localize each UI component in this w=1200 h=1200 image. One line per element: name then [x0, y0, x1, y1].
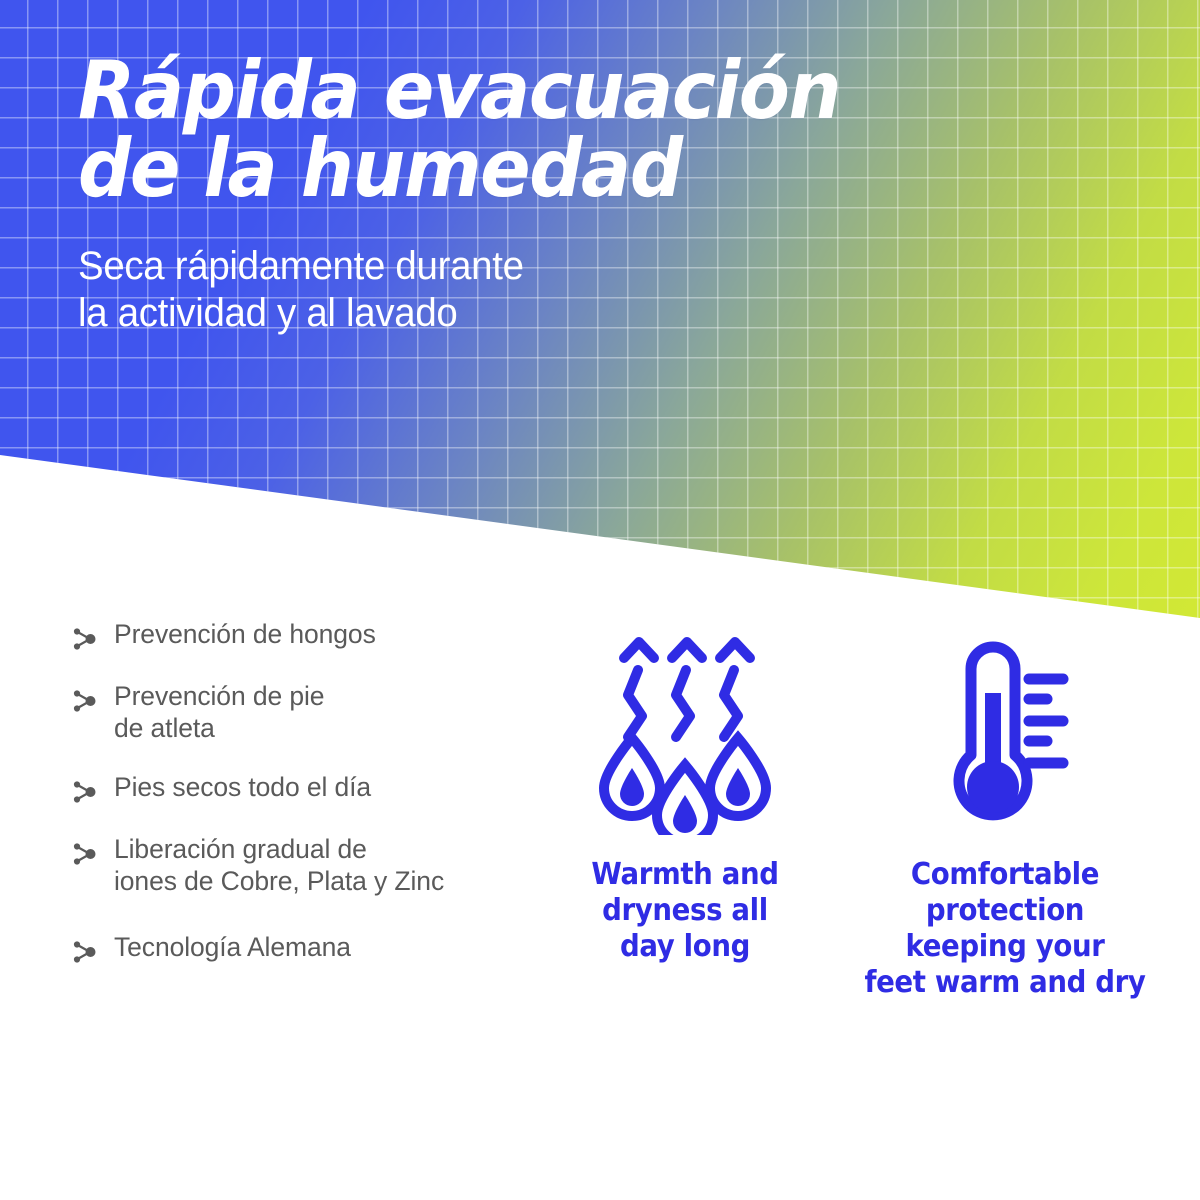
water-droplets-evaporation-icon — [560, 630, 810, 835]
page-subtitle: Seca rápidamente durante la actividad y … — [78, 209, 1038, 337]
list-item: Pies secos todo el día — [70, 771, 570, 807]
hero-text-block: Rápida evacuación de la humedad Seca ráp… — [78, 52, 1078, 337]
list-item-label: Tecnología Alemana — [114, 931, 351, 963]
share-node-icon — [70, 937, 100, 967]
list-item: Tecnología Alemana — [70, 931, 570, 967]
feature-caption: Comfortable protection keeping your feet… — [853, 857, 1157, 1001]
feature-warmth-dryness: Warmth and dryness all day long — [560, 630, 810, 965]
share-node-icon — [70, 624, 100, 654]
moisture-evacuation-infographic: Rápida evacuación de la humedad Seca ráp… — [0, 0, 1200, 1200]
lower-content-area: Prevención de hongos Prevención de pie d… — [0, 600, 1200, 1200]
benefits-list: Prevención de hongos Prevención de pie d… — [70, 618, 570, 967]
share-node-icon — [70, 777, 100, 807]
list-item-label: Pies secos todo el día — [114, 771, 371, 803]
share-node-icon — [70, 686, 100, 716]
list-item-label: Prevención de hongos — [114, 618, 376, 650]
thermometer-icon — [840, 630, 1170, 835]
share-node-icon — [70, 839, 100, 869]
list-item: Liberación gradual de iones de Cobre, Pl… — [70, 833, 570, 898]
list-item: Prevención de pie de atleta — [70, 680, 570, 745]
list-item: Prevención de hongos — [70, 618, 570, 654]
list-item-label: Liberación gradual de iones de Cobre, Pl… — [114, 833, 444, 898]
page-title: Rápida evacuación de la humedad — [78, 52, 1008, 209]
feature-comfortable-protection: Comfortable protection keeping your feet… — [840, 630, 1170, 1001]
feature-caption: Warmth and dryness all day long — [570, 857, 800, 965]
list-item-label: Prevención de pie de atleta — [114, 680, 324, 745]
